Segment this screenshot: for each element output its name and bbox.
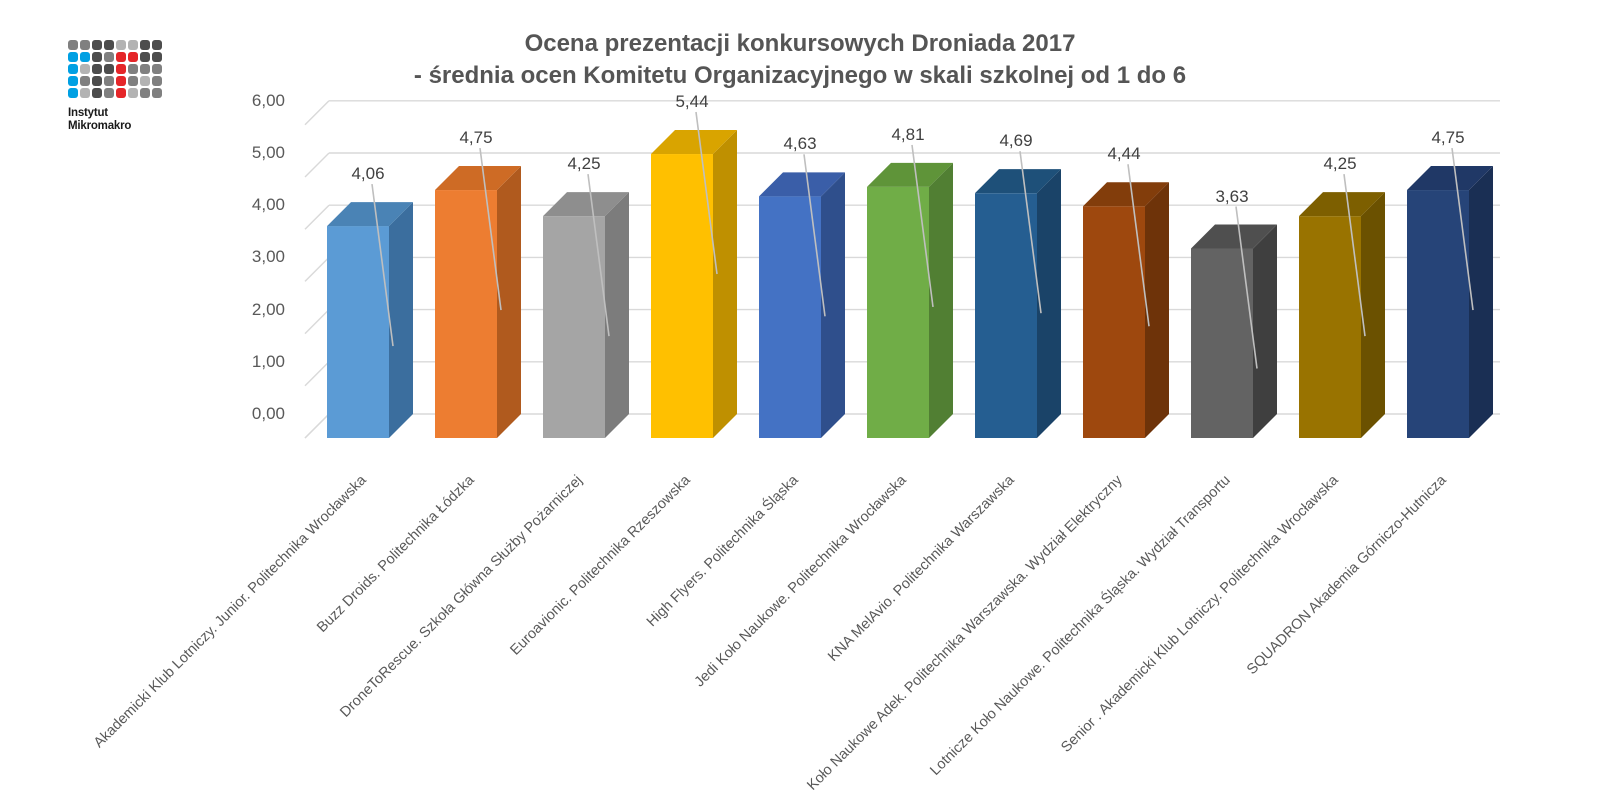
bar[interactable] bbox=[759, 172, 845, 438]
bar-front-face[interactable] bbox=[975, 193, 1037, 438]
bars bbox=[327, 130, 1493, 438]
bar[interactable] bbox=[543, 192, 629, 438]
bar-front-face[interactable] bbox=[327, 226, 389, 438]
bar-value-label: 4,75 bbox=[459, 128, 492, 148]
bar[interactable] bbox=[1407, 166, 1493, 438]
bar-side-face[interactable] bbox=[1361, 192, 1385, 438]
bar-side-face[interactable] bbox=[1253, 225, 1277, 438]
bar-value-label: 5,44 bbox=[675, 92, 708, 112]
plot-area: 0,001,002,003,004,005,006,004,064,754,25… bbox=[0, 0, 1600, 812]
y-axis-tick-label: 0,00 bbox=[195, 404, 285, 424]
bar-side-face[interactable] bbox=[1037, 169, 1061, 438]
bar-front-face[interactable] bbox=[867, 187, 929, 438]
bar-front-face[interactable] bbox=[1191, 249, 1253, 438]
bar-side-face[interactable] bbox=[1145, 182, 1169, 438]
gridline-depth bbox=[305, 153, 329, 177]
bar-front-face[interactable] bbox=[1407, 190, 1469, 438]
bar[interactable] bbox=[1299, 192, 1385, 438]
gridline-depth bbox=[305, 310, 329, 334]
bar-side-face[interactable] bbox=[605, 192, 629, 438]
chart-canvas: Instytut Mikromakro Ocena prezentacji ko… bbox=[0, 0, 1600, 812]
y-axis-tick-label: 3,00 bbox=[195, 247, 285, 267]
gridline-depth bbox=[305, 257, 329, 281]
bar-value-label: 4,25 bbox=[1323, 154, 1356, 174]
bar-value-label: 4,25 bbox=[567, 154, 600, 174]
bar-side-face[interactable] bbox=[389, 202, 413, 438]
y-axis-tick-label: 5,00 bbox=[195, 143, 285, 163]
y-axis-tick-label: 1,00 bbox=[195, 352, 285, 372]
bar-value-label: 4,06 bbox=[351, 164, 384, 184]
bar-value-label: 4,63 bbox=[783, 134, 816, 154]
bar[interactable] bbox=[975, 169, 1061, 438]
bar-value-label: 4,75 bbox=[1431, 128, 1464, 148]
bar-front-face[interactable] bbox=[759, 196, 821, 438]
bar[interactable] bbox=[327, 202, 413, 438]
bar-side-face[interactable] bbox=[713, 130, 737, 438]
floor bbox=[305, 414, 329, 438]
bar-value-label: 4,81 bbox=[891, 125, 924, 145]
bar-front-face[interactable] bbox=[651, 154, 713, 438]
bar-front-face[interactable] bbox=[1299, 216, 1361, 438]
axis-floor-edge bbox=[305, 414, 329, 438]
bar-front-face[interactable] bbox=[435, 190, 497, 438]
y-axis-tick-label: 2,00 bbox=[195, 300, 285, 320]
bar[interactable] bbox=[1083, 182, 1169, 438]
bar[interactable] bbox=[867, 163, 953, 438]
bar[interactable] bbox=[651, 130, 737, 438]
bar-front-face[interactable] bbox=[1083, 206, 1145, 438]
bar[interactable] bbox=[1191, 225, 1277, 438]
bar-side-face[interactable] bbox=[821, 172, 845, 438]
bar[interactable] bbox=[435, 166, 521, 438]
gridline-depth bbox=[305, 362, 329, 386]
bar-value-label: 4,69 bbox=[999, 131, 1032, 151]
gridline-depth bbox=[305, 205, 329, 229]
gridline-depth bbox=[305, 101, 329, 125]
y-axis-tick-label: 6,00 bbox=[195, 91, 285, 111]
bar-value-label: 3,63 bbox=[1215, 187, 1248, 207]
y-axis-tick-label: 4,00 bbox=[195, 195, 285, 215]
bar-front-face[interactable] bbox=[543, 216, 605, 438]
bar-value-label: 4,44 bbox=[1107, 144, 1140, 164]
